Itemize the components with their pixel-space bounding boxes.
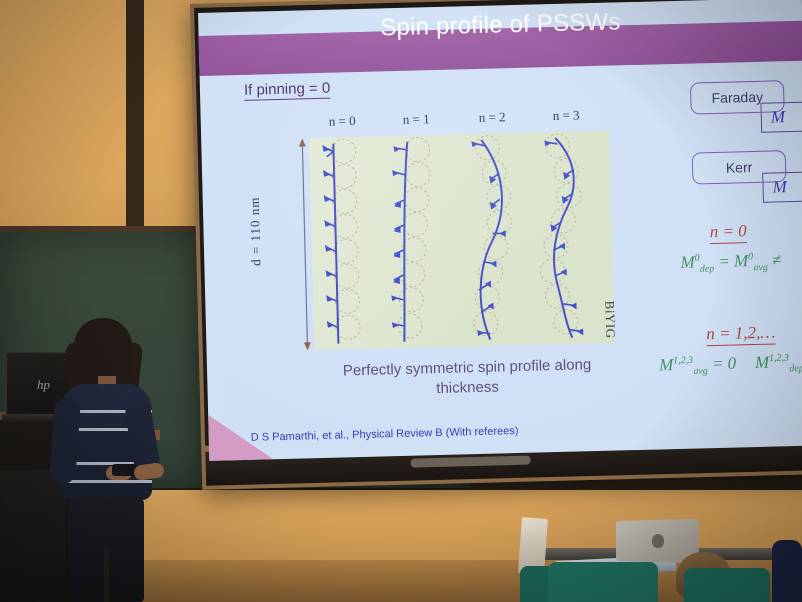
presentation-slide: Spin profile of PSSWs If pinning = 0 n =… [198,0,802,461]
material-label: BiYIG [601,301,618,339]
eq-avg-m: M [659,355,674,374]
eq-n0-sup: 0 [694,253,699,264]
spin-profile-plot [309,131,614,351]
column-label-n0: n = 0 [329,113,356,130]
eq-n0-sub: dep [700,263,715,274]
apple-logo-icon [652,534,664,548]
audience-chair [548,562,658,602]
equation-dep: M1,2,3dep ≠ [755,351,802,375]
wall-pillar [126,0,144,235]
screen-handle[interactable] [411,456,531,468]
eq-avg-sup: 1,2,3 [673,355,693,367]
column-label-n2: n = 2 [479,109,506,126]
presenter-leg-gap [104,548,109,602]
faraday-m-box[interactable]: M [760,101,802,133]
spin-profile-panel: BiYIG [309,131,614,351]
audience-member-shoulder [772,540,802,602]
equation-heading-n0: n = 0 [709,221,747,244]
sweater-stripe [60,480,152,483]
presenter-hand-right [133,462,165,481]
column-label-n1: n = 1 [403,111,430,128]
lecture-hall-scene: Spin profile of PSSWs If pinning = 0 n =… [0,0,802,602]
equation-heading-n123: n = 1,2,… [706,322,776,346]
eq-n0-tail: ≠ [772,250,782,269]
kerr-m-box[interactable]: M [762,171,802,203]
equation-avg: M1,2,3avg = 0 [659,353,737,377]
eq-n0-m: M [680,253,695,272]
eq-n0-sub2: avg [753,262,768,273]
eq-n0-sup2: 0 [748,251,753,262]
thickness-label: d = 110 nm [247,196,265,266]
eq-avg-sub: avg [693,366,708,377]
eq-n0-rest: = M [718,251,748,271]
equation-n0: M0dep = M0avg ≠ [680,250,781,275]
presenter [48,318,176,602]
eq-dep-sub: dep [789,363,802,374]
slide-subheading: If pinning = 0 [244,80,331,101]
eq-dep-sup: 1,2,3 [769,352,789,364]
column-label-n3: n = 3 [553,107,580,124]
slide-caption: Perfectly symmetric spin profile along t… [311,354,624,402]
audience-chair [684,568,770,602]
eq-dep-m: M [755,353,770,372]
slide-citation: D S Pamarthi, et al., Physical Review B … [251,425,519,444]
corner-accent [208,413,273,461]
eq-avg-tail: = 0 [712,353,737,373]
